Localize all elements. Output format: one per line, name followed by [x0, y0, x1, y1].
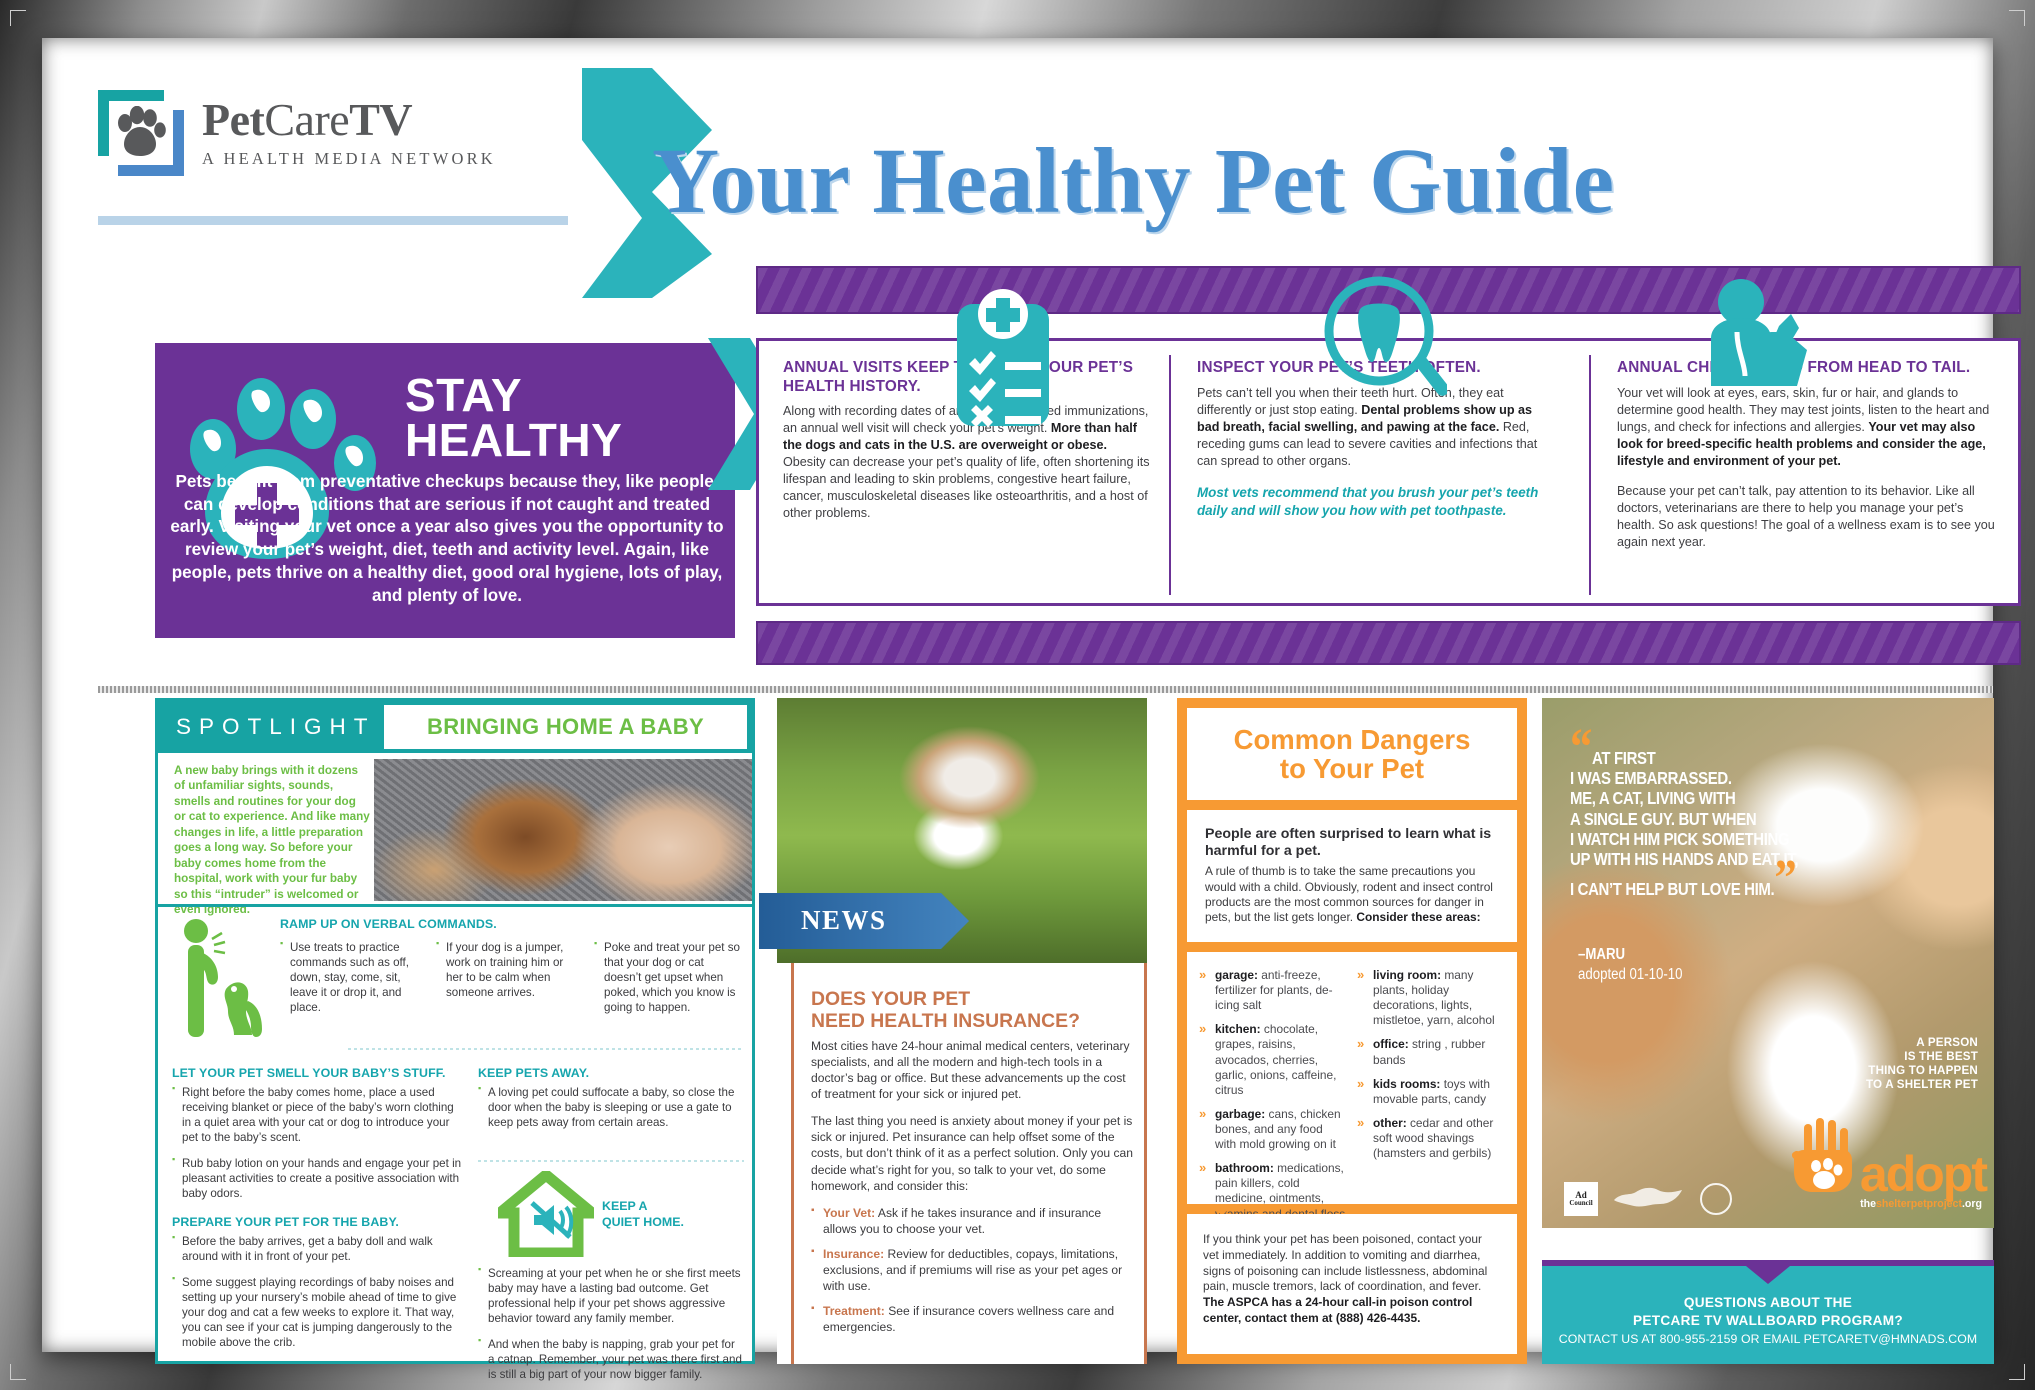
dangers-column-left: garage: anti-freeze, fertilizer for plan…	[1199, 968, 1347, 1231]
contact-notch	[1746, 1266, 1790, 1284]
house-mute-icon	[498, 1171, 594, 1257]
adopt-quote-line: ME, A CAT, LIVING WITH	[1570, 788, 1736, 808]
quiet-home-line2: QUIET HOME.	[602, 1215, 684, 1231]
spotlight-rule-1	[158, 904, 752, 907]
bottom-striped-bar	[756, 621, 2021, 665]
frame-corner-top-right	[2009, 10, 2025, 26]
dangers-list-box: garage: anti-freeze, fertilizer for plan…	[1187, 952, 1517, 1204]
danger-item: garage: anti-freeze, fertilizer for plan…	[1199, 968, 1347, 1013]
danger-item: living room: many plants, holiday decora…	[1357, 968, 1505, 1028]
news-bullet-label: Your Vet:	[823, 1206, 875, 1220]
danger-label: kids rooms:	[1373, 1077, 1440, 1091]
adopt-url[interactable]: theshelterpetproject.org	[1860, 1198, 1982, 1210]
adopt-url-post: .org	[1962, 1198, 1982, 1210]
news-bullet: Insurance: Review for deductibles, copay…	[811, 1246, 1133, 1294]
danger-label: kitchen:	[1215, 1022, 1261, 1036]
news-bullet: Your Vet: Ask if he takes insurance and …	[811, 1205, 1133, 1237]
adopt-url-mid: shelterpetproject	[1876, 1198, 1962, 1210]
news-paragraph: Most cities have 24-hour animal medical …	[811, 1038, 1133, 1102]
list-item: Rub baby lotion on your hands and engage…	[172, 1156, 464, 1201]
danger-item: kitchen: chocolate, grapes, raisins, avo…	[1199, 1022, 1347, 1098]
smell-heading: LET YOUR PET SMELL YOUR BABY’S STUFF.	[172, 1066, 464, 1080]
adopt-pet-name: –MARU	[1578, 946, 1683, 964]
frame-corner-bottom-left	[10, 1364, 26, 1380]
petcaretv-logo: PetCareTV A HEALTH MEDIA NETWORK	[98, 90, 496, 176]
quiet-home-section: Screaming at your pet when he or she fir…	[478, 1261, 744, 1382]
danger-item: garbage: cans, chicken bones, and any fo…	[1199, 1107, 1347, 1152]
tip-body-1-part2: Obesity can decrease your pet’s quality …	[783, 455, 1150, 520]
spotlight-panel: SPOTLIGHT BRINGING HOME A BABY A new bab…	[155, 698, 755, 1364]
danger-item: office: string , rubber bands	[1357, 1037, 1505, 1067]
dangers-column-right: living room: many plants, holiday decora…	[1357, 968, 1505, 1231]
news-headline-line2: NEED HEALTH INSURANCE?	[811, 1010, 1080, 1032]
adopt-date: adopted 01-10-10	[1578, 966, 1683, 984]
list-item: Use treats to practice commands such as …	[280, 940, 420, 1015]
close-quote-icon: ”	[1774, 850, 1796, 907]
stay-healthy-panel: STAY HEALTHY Pets benefit from preventat…	[155, 343, 735, 638]
adopt-slogan-line: THING TO HAPPEN	[1866, 1064, 1978, 1078]
adopt-attribution: –MARU adopted 01-10-10	[1578, 946, 1683, 984]
verbal-commands-heading: RAMP UP ON VERBAL COMMANDS.	[280, 917, 742, 931]
brand-tagline: A HEALTH MEDIA NETWORK	[202, 149, 496, 169]
adopt-logo[interactable]: adopt	[1788, 1118, 1986, 1194]
adopt-quote-block: “AT FIRST I WAS EMBARRASSED. ME, A CAT, …	[1570, 738, 1860, 899]
frame-corner-top-left	[10, 10, 26, 26]
news-headline-line1: DOES YOUR PET	[811, 988, 970, 1010]
list-item: And when the baby is napping, grab your …	[478, 1337, 744, 1382]
brand-name-mid: Care	[264, 94, 349, 145]
danger-label: garbage:	[1215, 1107, 1265, 1121]
poster-header: PetCareTV A HEALTH MEDIA NETWORK Your He…	[42, 38, 1993, 226]
maddies-fund-seal	[1700, 1183, 1732, 1215]
list-item: Screaming at your pet when he or she fir…	[478, 1266, 744, 1326]
spotlight-title-box: BRINGING HOME A BABY	[384, 705, 747, 749]
stay-healthy-body: Pets benefit from preventative checkups …	[169, 471, 725, 607]
adopt-quote: “AT FIRST I WAS EMBARRASSED. ME, A CAT, …	[1570, 738, 1819, 899]
vet-with-dog-icon	[1697, 276, 1827, 406]
wall-frame: PetCareTV A HEALTH MEDIA NETWORK Your He…	[0, 0, 2035, 1390]
news-body: Most cities have 24-hour animal medical …	[811, 1038, 1133, 1344]
dangers-title: Common Dangers to Your Pet	[1234, 725, 1471, 783]
contact-top-bar	[1542, 1260, 1994, 1266]
dangers-intro-box: People are often surprised to learn what…	[1187, 810, 1517, 942]
prepare-pet-section: PREPARE YOUR PET FOR THE BABY. Before th…	[172, 1215, 464, 1350]
header-underline	[98, 216, 568, 225]
dangers-sub-bold: Consider these areas:	[1356, 910, 1480, 924]
danger-label: bathroom:	[1215, 1161, 1274, 1175]
news-bullet-label: Treatment:	[823, 1304, 885, 1318]
dangers-lead: People are often surprised to learn what…	[1205, 826, 1499, 860]
news-bullet: Treatment: See if insurance covers welln…	[811, 1303, 1133, 1335]
spotlight-label: SPOTLIGHT	[176, 714, 376, 740]
news-paragraph: The last thing you need is anxiety about…	[811, 1113, 1133, 1193]
list-item: If your dog is a jumper, work on trainin…	[436, 940, 578, 1000]
keep-pets-away-section: KEEP PETS AWAY. A loving pet could suffo…	[478, 1066, 744, 1130]
danger-label: other:	[1373, 1116, 1407, 1130]
danger-label: garage:	[1215, 968, 1258, 982]
adopt-slogan: A PERSON IS THE BEST THING TO HAPPEN TO …	[1866, 1036, 1978, 1092]
spotlight-dotted-rule-1	[348, 1048, 744, 1050]
spotlight-title: BRINGING HOME A BABY	[427, 714, 704, 740]
adopt-slogan-line: IS THE BEST	[1866, 1050, 1978, 1064]
spotlight-dotted-rule-2	[478, 1160, 744, 1162]
column-divider-2	[1589, 355, 1591, 595]
list-item: A loving pet could suffocate a baby, so …	[478, 1085, 744, 1130]
stay-healthy-heading-line2: HEALTHY	[405, 414, 622, 466]
adopt-slogan-line: A PERSON	[1866, 1036, 1978, 1050]
tip-accent-2: Most vets recommend that you brush your …	[1197, 484, 1557, 521]
clipboard-checklist-icon	[947, 286, 1059, 436]
keepaway-heading: KEEP PETS AWAY.	[478, 1066, 744, 1080]
page-title: Your Healthy Pet Guide	[652, 128, 2002, 235]
humane-society-logo	[1612, 1184, 1686, 1214]
dangers-footer-bold: The ASPCA has a 24-hour call-in poison c…	[1203, 1295, 1472, 1325]
adopt-quote-line: AT FIRST	[1592, 748, 1655, 768]
danger-label: office:	[1373, 1037, 1409, 1051]
stay-healthy-heading: STAY HEALTHY	[405, 373, 725, 463]
section-divider	[98, 686, 1993, 693]
adopt-advertisement[interactable]: “AT FIRST I WAS EMBARRASSED. ME, A CAT, …	[1542, 698, 1994, 1228]
paw-print-icon	[98, 90, 184, 176]
dangers-sub: A rule of thumb is to take the same prec…	[1205, 864, 1499, 926]
frame-corner-bottom-right	[2009, 1364, 2025, 1380]
news-panel: NEWS DOES YOUR PET NEED HEALTH INSURANCE…	[777, 698, 1147, 1364]
contact-details[interactable]: CONTACT US AT 800-955-2159 OR EMAIL PETC…	[1542, 1332, 1994, 1346]
adopt-quote-line: UP WITH HIS HANDS AND EAT IT,	[1570, 849, 1798, 869]
logo-wordmark: PetCareTV A HEALTH MEDIA NETWORK	[202, 97, 496, 169]
wallboard-poster: PetCareTV A HEALTH MEDIA NETWORK Your He…	[42, 38, 1993, 1352]
news-label: NEWS	[801, 905, 887, 936]
adopt-wordmark: adopt	[1860, 1154, 1986, 1194]
dangers-footer: If you think your pet has been poisoned,…	[1203, 1232, 1501, 1327]
list-item: Poke and treat your pet so that your dog…	[594, 940, 740, 1015]
contact-line2: PETCARE TV WALLBOARD PROGRAM?	[1633, 1313, 1903, 1328]
spotlight-header: SPOTLIGHT BRINGING HOME A BABY	[158, 701, 752, 753]
danger-item: kids rooms: toys with movable parts, can…	[1357, 1077, 1505, 1107]
common-dangers-panel: Common Dangers to Your Pet People are of…	[1177, 698, 1527, 1364]
quiet-home-line1: KEEP A	[602, 1199, 684, 1215]
adopt-quote-line: I CAN’T HELP BUT LOVE HIM.	[1570, 879, 1774, 899]
tip-body-3-extra: Because your pet can’t talk, pay attenti…	[1617, 483, 1997, 551]
puppy-baby-photo	[374, 759, 752, 901]
news-left-border	[791, 963, 794, 1364]
quiet-home-label: KEEP A QUIET HOME.	[602, 1199, 684, 1230]
tooth-magnifier-icon	[1317, 276, 1447, 406]
column-divider-1	[1169, 355, 1171, 595]
dangers-poison-box: If you think your pet has been poisoned,…	[1187, 1214, 1517, 1354]
dangers-title-box: Common Dangers to Your Pet	[1187, 708, 1517, 800]
spotlight-lead: A new baby brings with it dozens of unfa…	[174, 763, 370, 917]
dangers-footer-part1: If you think your pet has been poisoned,…	[1203, 1232, 1487, 1293]
adopt-quote-line: I WAS EMBARRASSED.	[1570, 768, 1732, 788]
adopt-slogan-line: TO A SHELTER PET	[1866, 1078, 1978, 1092]
adopt-quote-line: A SINGLE GUY. BUT WHEN	[1570, 809, 1756, 829]
brand-name-bold: Pet	[202, 94, 264, 145]
danger-item: other: cedar and other soft wood shaving…	[1357, 1116, 1505, 1161]
list-item: Some suggest playing recordings of baby …	[172, 1275, 464, 1350]
dangers-title-line1: Common Dangers	[1234, 724, 1471, 755]
contact-line1: QUESTIONS ABOUT THE	[1684, 1295, 1852, 1310]
dangers-title-line2: to Your Pet	[1280, 753, 1424, 784]
adopt-quote-line: I WATCH HIM PICK SOMETHING	[1570, 829, 1789, 849]
news-right-border	[1144, 963, 1147, 1364]
brand-name-tail: TV	[349, 94, 412, 145]
list-item: Right before the baby comes home, place …	[172, 1085, 464, 1145]
news-bullet-label: Insurance:	[823, 1247, 884, 1261]
contact-headline: QUESTIONS ABOUT THE PETCARE TV WALLBOARD…	[1542, 1294, 1994, 1329]
list-item: Before the baby arrives, get a baby doll…	[172, 1234, 464, 1264]
ad-council-line2: Council	[1569, 1200, 1592, 1207]
ad-council-logo: Ad Council	[1564, 1182, 1598, 1216]
adopt-url-pre: the	[1860, 1198, 1876, 1210]
danger-label: living room:	[1373, 968, 1441, 982]
smell-baby-stuff-section: LET YOUR PET SMELL YOUR BABY’S STUFF. Ri…	[172, 1066, 464, 1201]
person-training-dog-icon	[172, 917, 268, 1045]
adopt-sponsor-badges: Ad Council	[1564, 1182, 1732, 1216]
verbal-commands-section: RAMP UP ON VERBAL COMMANDS. Use treats t…	[280, 917, 742, 1015]
contact-footer: QUESTIONS ABOUT THE PETCARE TV WALLBOARD…	[1542, 1260, 1994, 1364]
prepare-heading: PREPARE YOUR PET FOR THE BABY.	[172, 1215, 464, 1229]
orange-hand-paw-icon	[1788, 1118, 1860, 1194]
news-headline: DOES YOUR PET NEED HEALTH INSURANCE?	[811, 988, 1131, 1033]
